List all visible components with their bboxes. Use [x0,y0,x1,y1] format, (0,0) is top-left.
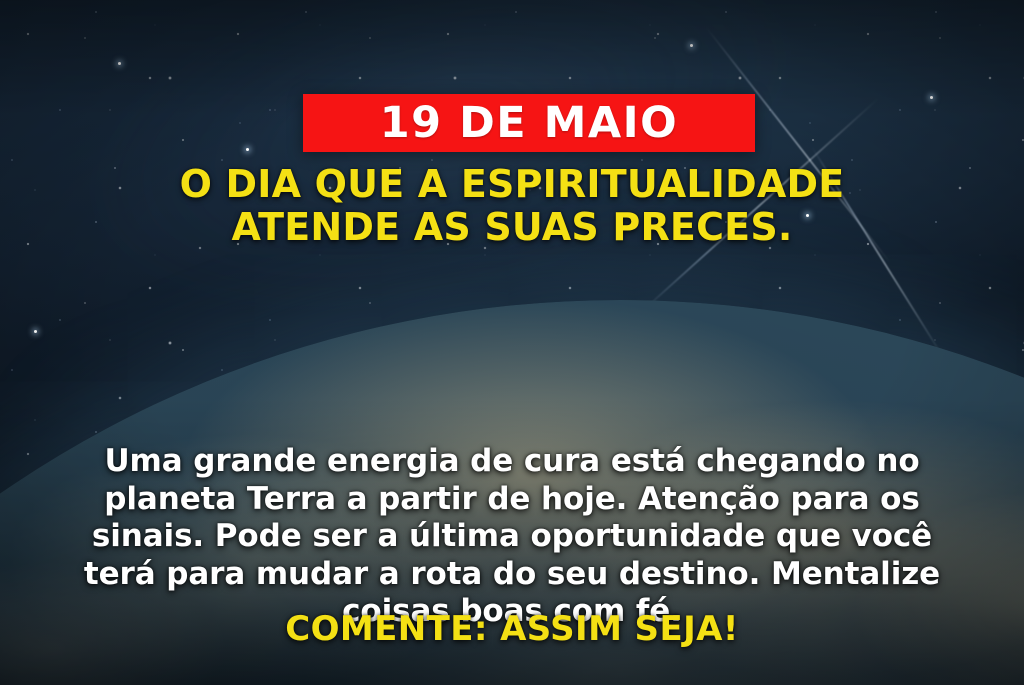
headline-line-1: O DIA QUE A ESPIRITUALIDADE [180,162,845,206]
headline: O DIA QUE A ESPIRITUALIDADE ATENDE AS SU… [0,163,1024,248]
poster-canvas: 19 DE MAIO O DIA QUE A ESPIRITUALIDADE A… [0,0,1024,685]
headline-line-2: ATENDE AS SUAS PRECES. [46,206,978,249]
body-paragraph: Uma grande energia de cura está chegando… [0,443,1024,631]
date-banner: 19 DE MAIO [303,94,755,152]
poster-content: 19 DE MAIO O DIA QUE A ESPIRITUALIDADE A… [0,0,1024,685]
date-banner-label: 19 DE MAIO [380,102,678,145]
call-to-action-label: COMENTE: ASSIM SEJA! [0,612,1024,646]
